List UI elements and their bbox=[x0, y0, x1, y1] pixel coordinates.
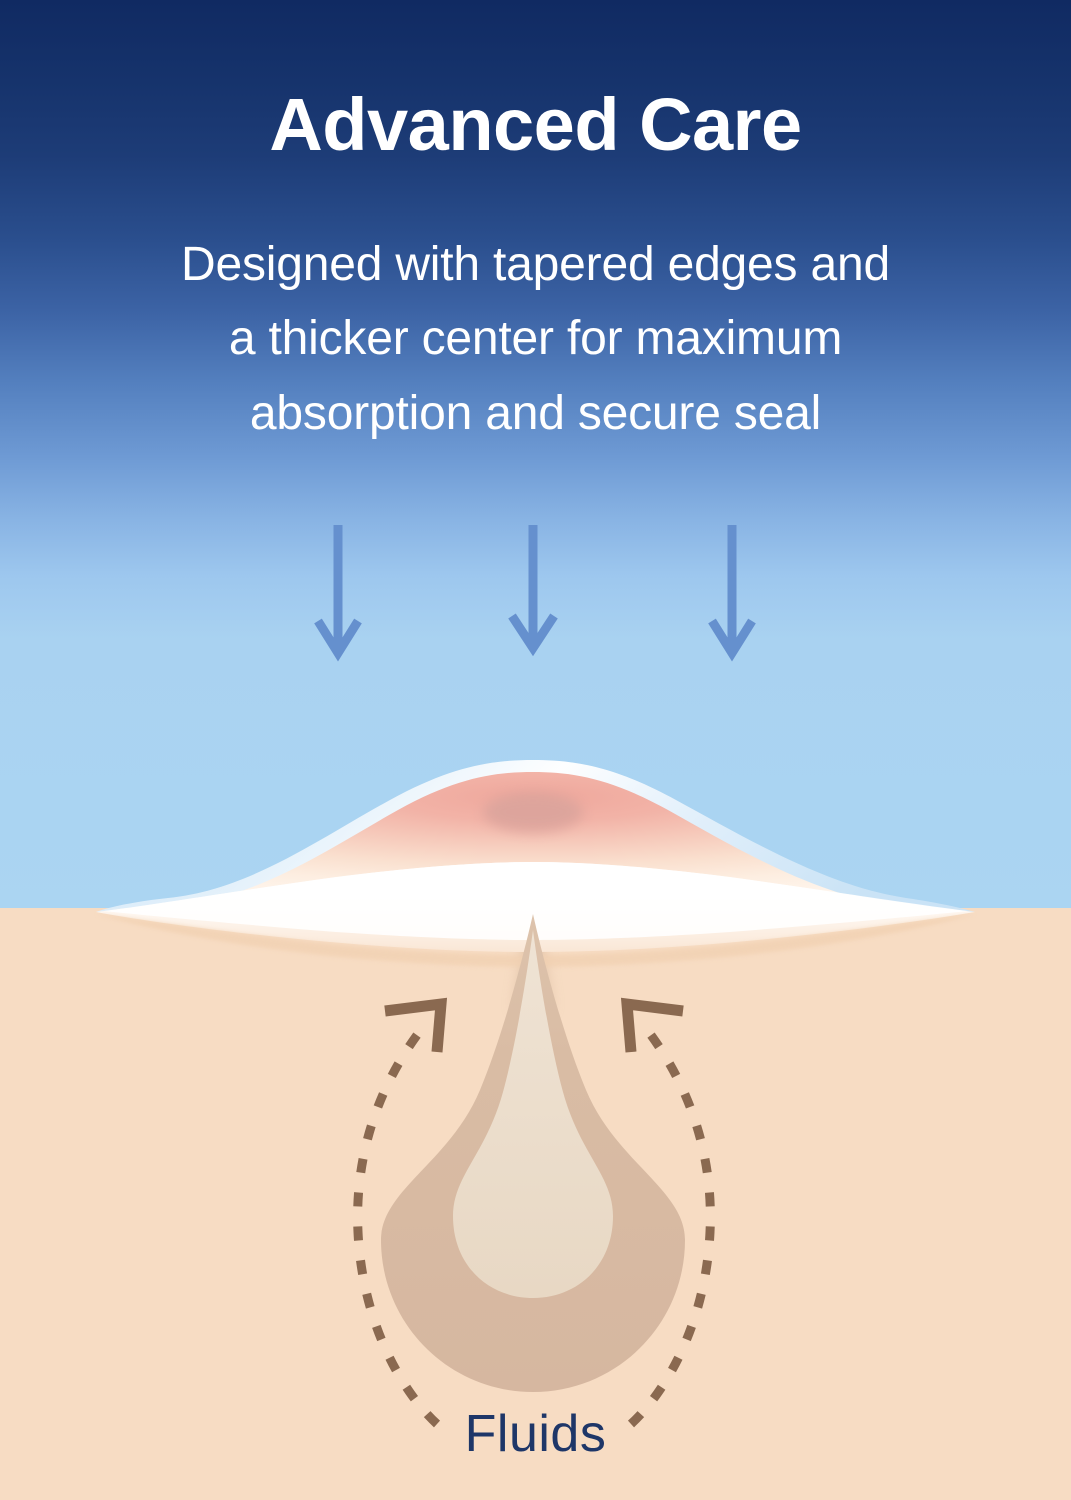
infographic-canvas: Advanced Care Designed with tapered edge… bbox=[0, 0, 1071, 1500]
subtitle-line-2: a thicker center for maximum bbox=[0, 302, 1071, 376]
subtitle-line-1: Designed with tapered edges and bbox=[0, 228, 1071, 302]
advanced-care-illustration bbox=[0, 0, 1071, 1500]
subtitle-line-3: absorption and secure seal bbox=[0, 377, 1071, 451]
page-subtitle: Designed with tapered edges and a thicke… bbox=[0, 228, 1071, 451]
wound-oval bbox=[483, 792, 583, 832]
fluids-label: Fluids bbox=[0, 1404, 1071, 1464]
page-title: Advanced Care bbox=[0, 88, 1071, 162]
